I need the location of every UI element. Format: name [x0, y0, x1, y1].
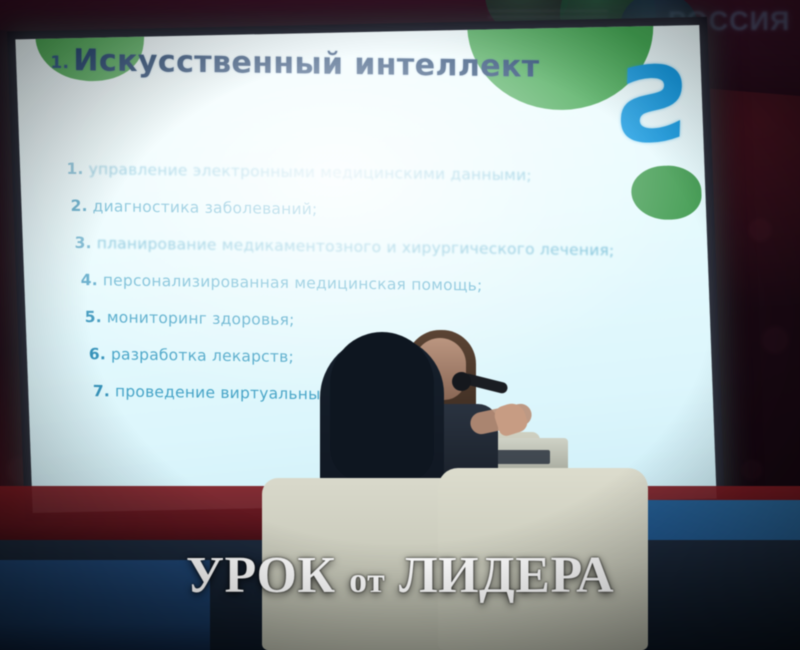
bullet-text: планирование медикаментозного и хирургич…: [97, 234, 615, 259]
list-item: 1.управление электронными медицинскими д…: [67, 160, 667, 186]
bullet-number: 3.: [75, 234, 92, 252]
speaker-one-hair: [330, 332, 434, 482]
bullet-number: 5.: [85, 308, 102, 326]
screenshot-stage: РОССИЯ Ƨ 1.Искусственный интеллект 1.упр…: [0, 0, 800, 650]
bullet-text: персонализированная медицинская помощь;: [103, 271, 483, 294]
slide-title-number: 1.: [50, 53, 69, 73]
bullet-text: управление электронными медицинскими дан…: [89, 160, 532, 184]
list-item: 3.планирование медикаментозного и хирург…: [75, 234, 667, 260]
bullet-text: проведение виртуальных: [115, 382, 330, 403]
video-caption: УРОК от ЛИДЕРА: [0, 546, 800, 605]
list-item: 2.диагностика заболеваний;: [71, 197, 667, 223]
slide-title: 1.Искусственный интеллект: [50, 43, 610, 86]
bullet-number: 4.: [81, 271, 98, 289]
caption-word-2: от: [349, 560, 385, 600]
bullet-text: диагностика заболеваний;: [93, 197, 318, 218]
slide-logo-mark: Ƨ: [617, 61, 694, 163]
bullet-number: 2.: [71, 197, 88, 215]
slide-title-text: Искусственный интеллект: [73, 43, 539, 84]
caption-word-1: УРОК: [186, 547, 336, 604]
bullet-text: мониторинг здоровья;: [107, 308, 295, 329]
bullet-number: 6.: [89, 345, 106, 363]
caption-word-3: ЛИДЕРА: [399, 547, 614, 604]
microphone-icon: [452, 372, 471, 391]
list-item: 4.персонализированная медицинская помощь…: [81, 271, 667, 297]
bullet-number: 1.: [67, 160, 84, 178]
bullet-number: 7.: [93, 382, 110, 400]
list-item: 5.мониторинг здоровья;: [85, 308, 667, 334]
bullet-text: разработка лекарств;: [111, 345, 294, 366]
